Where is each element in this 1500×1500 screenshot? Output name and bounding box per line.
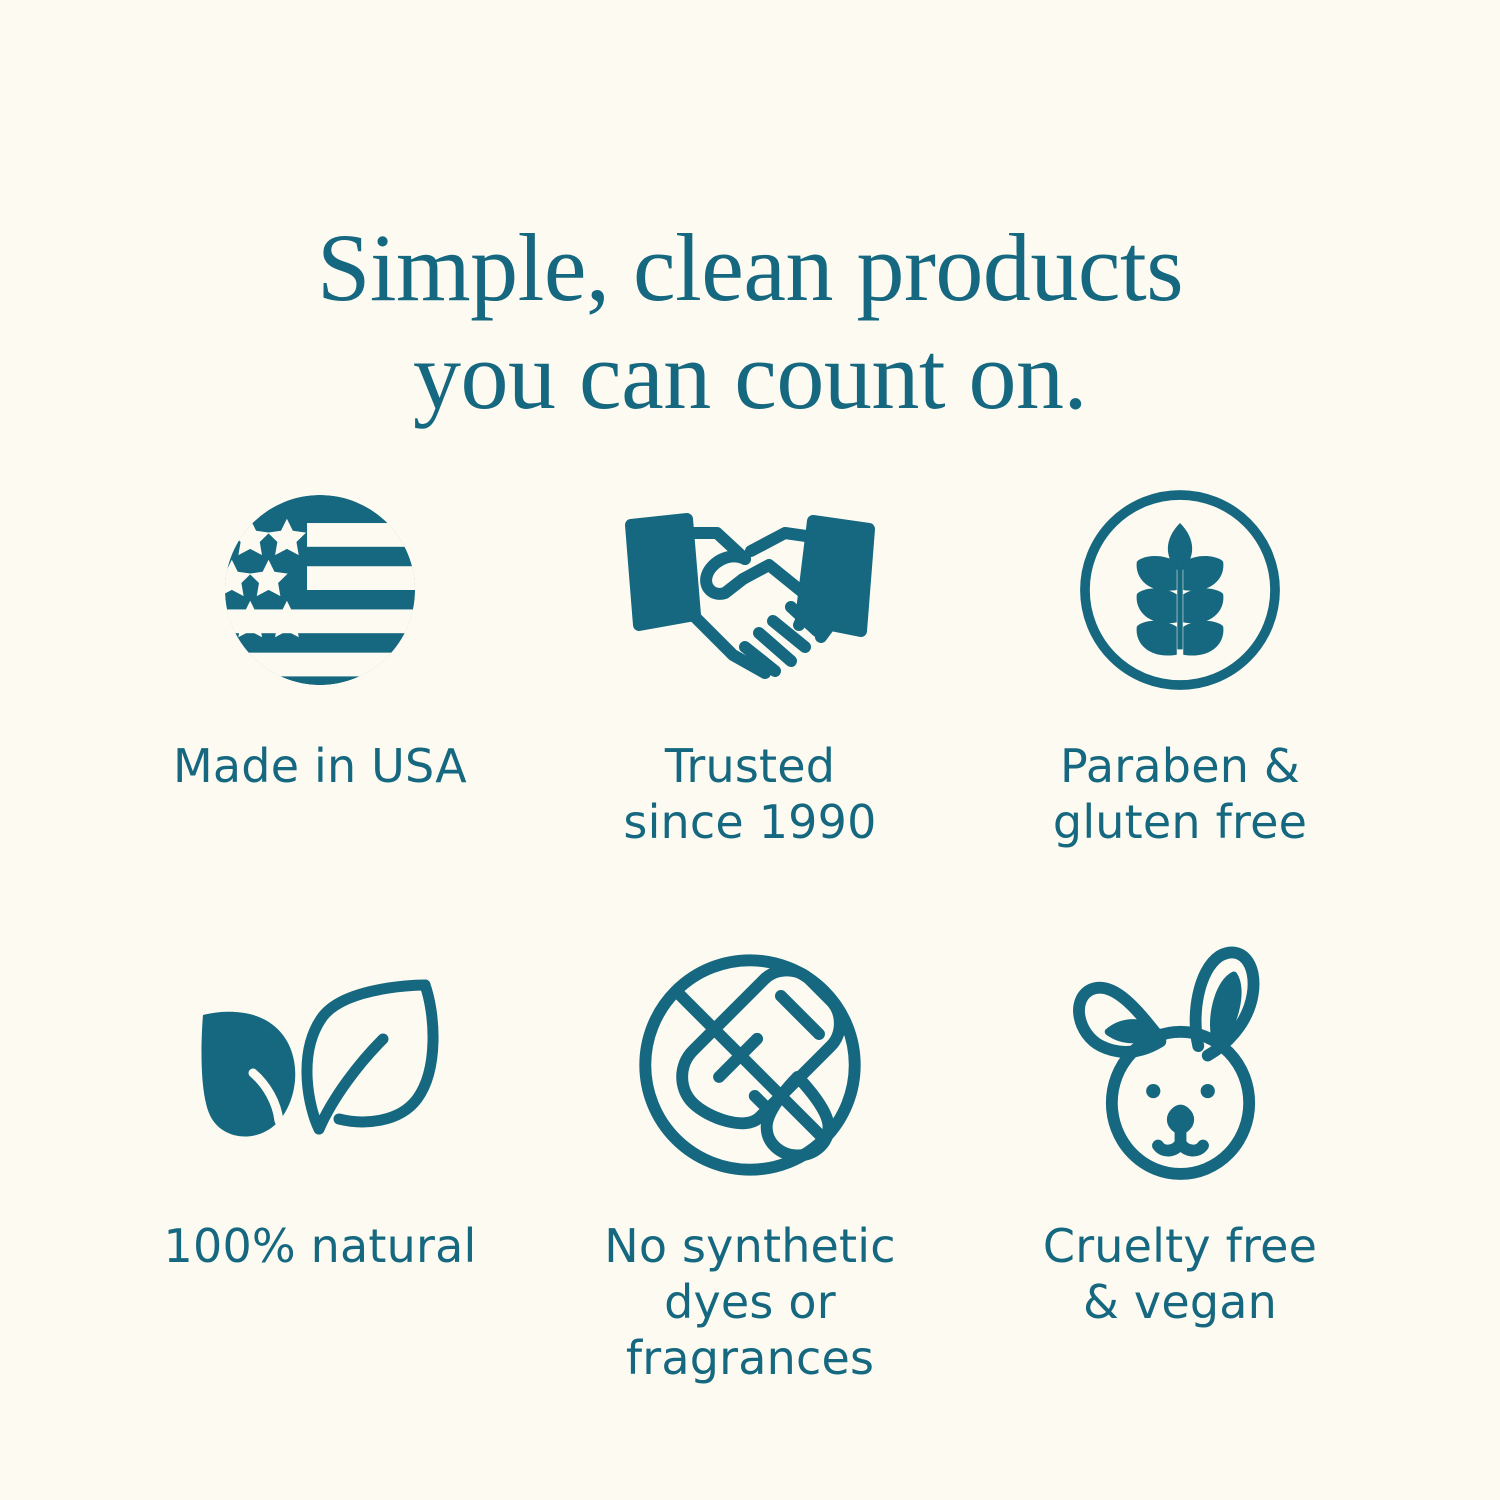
bunny-icon	[1060, 940, 1300, 1190]
promo-page: Simple, clean products you can count on.	[0, 0, 1500, 1500]
badge-label: Cruelty free & vegan	[1043, 1218, 1317, 1330]
page-title-line-2: you can count on.	[0, 322, 1500, 430]
badge-made-in-usa: Made in USA	[105, 470, 535, 940]
badge-label: Trusted since 1990	[623, 738, 876, 850]
page-title: Simple, clean products you can count on.	[0, 214, 1500, 429]
badge-label: Paraben & gluten free	[1053, 738, 1307, 850]
badge-paraben-gluten-free: Paraben & gluten free	[965, 470, 1395, 940]
badge-label: Made in USA	[173, 738, 467, 794]
wheat-circle-icon	[1060, 470, 1300, 710]
badge-cruelty-free-vegan: Cruelty free & vegan	[965, 940, 1395, 1410]
leaves-icon	[200, 940, 440, 1190]
badge-label: No synthetic dyes or fragrances	[604, 1218, 896, 1386]
feature-badge-grid: Made in USA	[105, 470, 1395, 1410]
handshake-icon	[630, 470, 870, 710]
badge-100-natural: 100% natural	[105, 940, 535, 1410]
badge-trusted-since: Trusted since 1990	[535, 470, 965, 940]
page-title-line-1: Simple, clean products	[0, 214, 1500, 322]
badge-label: 100% natural	[164, 1218, 477, 1274]
no-test-tube-icon	[630, 940, 870, 1190]
usa-flag-circle-icon	[200, 470, 440, 710]
badge-no-synthetic-dyes: No synthetic dyes or fragrances	[535, 940, 965, 1410]
